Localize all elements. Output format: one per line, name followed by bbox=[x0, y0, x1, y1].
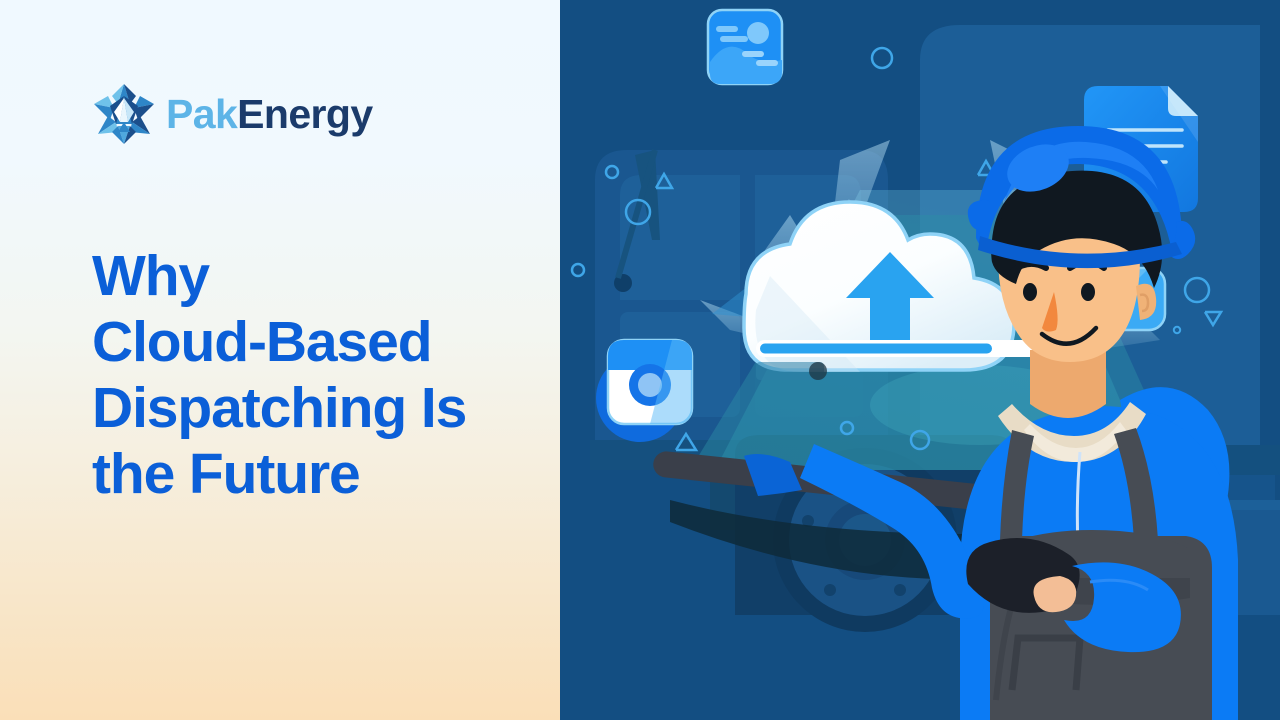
brand-logo[interactable]: PakEnergy bbox=[92, 82, 373, 146]
page-headline: Why Cloud-Based Dispatching Is the Futur… bbox=[92, 243, 552, 507]
marketing-banner: PakEnergy Why Cloud-Based Dispatching Is… bbox=[0, 0, 1280, 720]
headline-line-3: Dispatching Is bbox=[92, 376, 466, 440]
headline-line-1: Why bbox=[92, 244, 209, 308]
brand-wordmark-dark: Energy bbox=[237, 91, 372, 137]
headline-line-2: Cloud-Based bbox=[92, 310, 431, 374]
headline-line-4: the Future bbox=[92, 442, 360, 506]
pakenergy-star-logo-icon bbox=[92, 82, 156, 146]
left-content-panel: PakEnergy Why Cloud-Based Dispatching Is… bbox=[0, 0, 560, 720]
brand-wordmark-light: Pak bbox=[166, 91, 237, 137]
camera-card[interactable] bbox=[608, 340, 692, 424]
cloud-dispatch-worker-illustration bbox=[560, 0, 1280, 720]
brand-wordmark: PakEnergy bbox=[166, 94, 373, 135]
right-illustration-panel bbox=[560, 0, 1280, 720]
